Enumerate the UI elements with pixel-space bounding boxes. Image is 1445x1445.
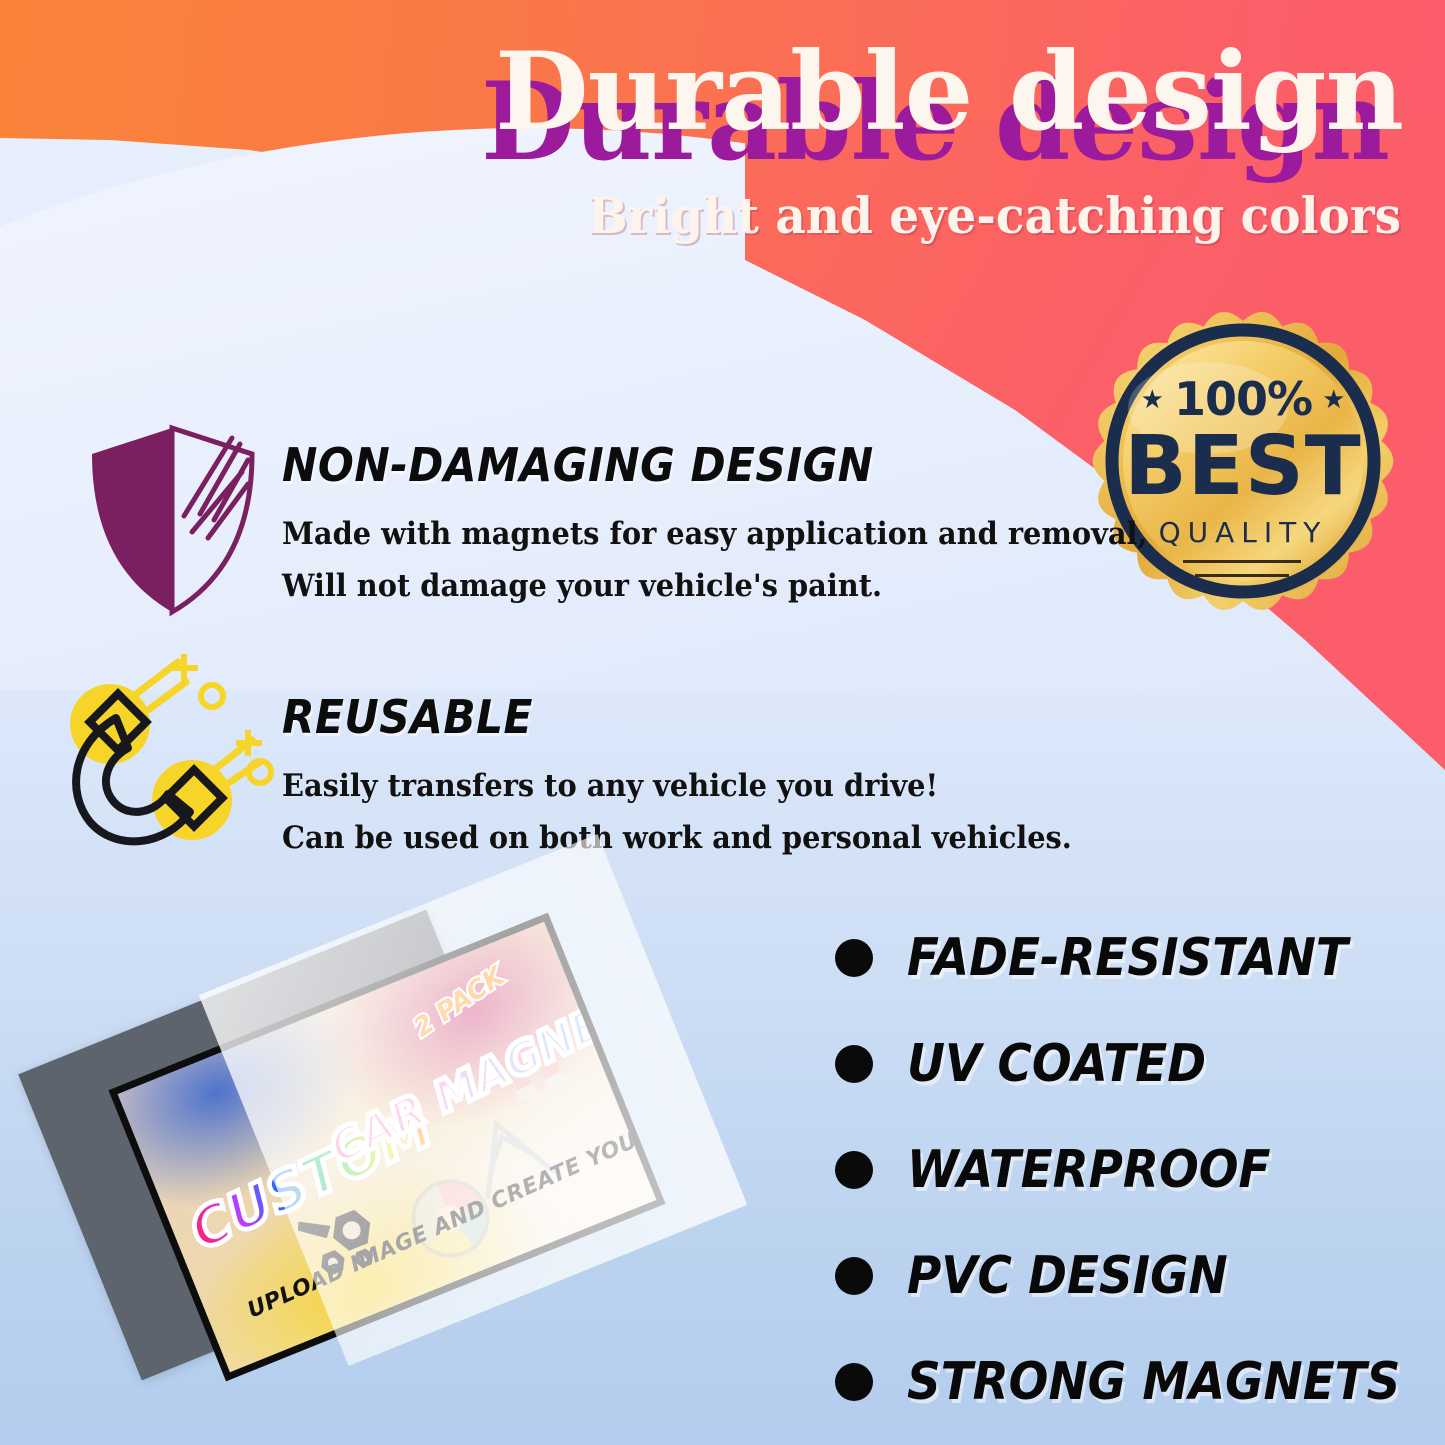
bullet-dot-icon	[835, 1151, 873, 1189]
feature-reusable: REUSABLE Easily transfers to any vehicle…	[282, 692, 1131, 864]
feature-line: Easily transfers to any vehicle you driv…	[282, 760, 1072, 812]
page-title-text: Durable design	[495, 36, 1403, 148]
feature-heading: NON-DAMAGING DESIGN	[282, 440, 1138, 490]
badge-star-left: ★	[1141, 386, 1164, 412]
bullet-dot-icon	[835, 939, 873, 977]
badge-star-right: ★	[1322, 386, 1345, 412]
page-title: Durable design Durable design	[495, 36, 1403, 166]
bullet-label: PVC DESIGN	[907, 1248, 1228, 1304]
bullet-dot-icon	[835, 1045, 873, 1083]
bullet-label: STRONG MAGNETS	[907, 1354, 1400, 1410]
list-item: WATERPROOF	[835, 1117, 1445, 1223]
page-subtitle: Bright and eye-catching colors	[588, 188, 1401, 244]
bullet-dot-icon	[835, 1257, 873, 1295]
product-image: CUSTOM 2 PACK CAR MAGNETS UPLOAD IMAGE A…	[30, 890, 770, 1430]
feature-line: Made with magnets for easy application a…	[282, 508, 1148, 560]
list-item: UV COATED	[835, 1011, 1445, 1117]
magnet-icon	[62, 652, 277, 852]
infographic-canvas: Durable design Durable design Bright and…	[0, 0, 1445, 1445]
shield-icon	[72, 420, 272, 620]
feature-line: Will not damage your vehicle's paint.	[282, 560, 1148, 612]
feature-line: Can be used on both work and personal ve…	[282, 812, 1072, 864]
feature-heading: REUSABLE	[282, 692, 1063, 742]
bullet-label: WATERPROOF	[907, 1142, 1271, 1198]
feature-bullet-list: FADE-RESISTANT UV COATED WATERPROOF PVC …	[835, 905, 1445, 1435]
header: Durable design Durable design Bright and…	[0, 0, 1445, 270]
list-item: FADE-RESISTANT	[835, 905, 1445, 1011]
list-item: STRONG MAGNETS	[835, 1329, 1445, 1435]
feature-non-damaging: NON-DAMAGING DESIGN Made with magnets fo…	[282, 440, 1213, 612]
bullet-label: UV COATED	[907, 1036, 1206, 1092]
list-item: PVC DESIGN	[835, 1223, 1445, 1329]
badge-percent: 100%	[1174, 376, 1312, 422]
bullet-label: FADE-RESISTANT	[907, 930, 1348, 986]
bullet-dot-icon	[835, 1363, 873, 1401]
